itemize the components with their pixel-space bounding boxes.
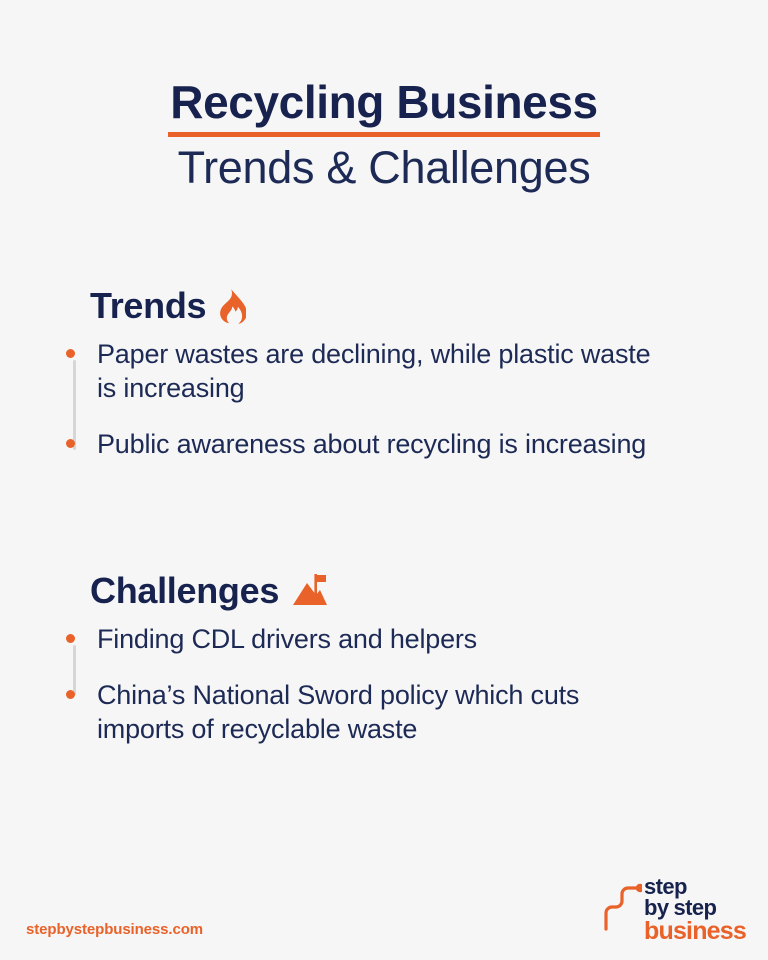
logo-row-middle: by step	[644, 898, 746, 919]
bullet-dot-icon	[66, 349, 75, 358]
section-challenges: Challenges Finding CDL drivers and helpe…	[66, 573, 706, 746]
footer-website-url: stepbystepbusiness.com	[26, 921, 203, 938]
logo-text-business: business	[644, 920, 746, 944]
page-title: Recycling Business	[168, 78, 599, 137]
list-item: Finding CDL drivers and helpers	[66, 623, 706, 657]
infographic-canvas: Recycling Business Trends & Challenges T…	[0, 0, 768, 960]
bullet-list-challenges: Finding CDL drivers and helpers China’s …	[66, 623, 706, 746]
section-title-trends: Trends	[90, 288, 206, 324]
logo-wordmark: step by step business	[644, 877, 746, 944]
logo-text-by: by	[644, 898, 668, 919]
list-item-label: Public awareness about recycling is incr…	[97, 428, 646, 462]
list-item: Paper wastes are declining, while plasti…	[66, 338, 706, 406]
section-trends: Trends Paper wastes are declining, while…	[66, 288, 706, 461]
section-heading-trends: Trends	[90, 288, 706, 324]
list-item-label: China’s National Sword policy which cuts…	[97, 679, 657, 747]
section-heading-challenges: Challenges	[90, 573, 706, 609]
bullet-dot-icon	[66, 690, 75, 699]
logo-step-bracket-icon	[602, 879, 642, 942]
title-block: Recycling Business Trends & Challenges	[0, 78, 768, 194]
bullet-list-trends: Paper wastes are declining, while plasti…	[66, 338, 706, 461]
bullet-dot-icon	[66, 634, 75, 643]
logo-text-step-2: step	[674, 898, 717, 919]
fire-emoji	[216, 288, 246, 324]
list-item: Public awareness about recycling is incr…	[66, 428, 706, 462]
mountain-with-flag-icon	[289, 573, 329, 609]
list-item-label: Paper wastes are declining, while plasti…	[97, 338, 657, 406]
section-title-challenges: Challenges	[90, 573, 279, 609]
page-subtitle: Trends & Challenges	[0, 141, 768, 194]
brand-logo: step by step business	[602, 877, 746, 944]
bullet-dot-icon	[66, 439, 75, 448]
list-item-label: Finding CDL drivers and helpers	[97, 623, 477, 657]
list-item: China’s National Sword policy which cuts…	[66, 679, 706, 747]
